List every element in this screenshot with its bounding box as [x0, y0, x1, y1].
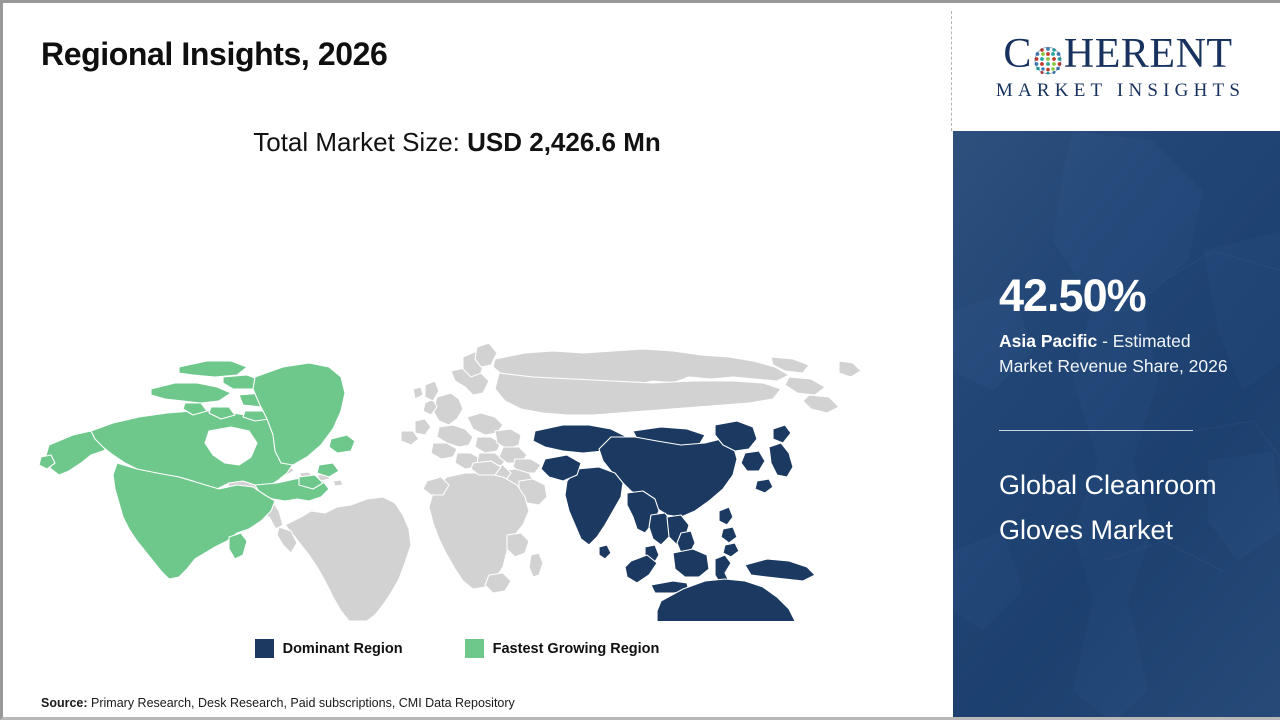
company-logo: C — [953, 3, 1280, 131]
legend-swatch-fastest-growing-icon — [465, 639, 484, 658]
stat-side-panel: 42.50% Asia Pacific - Estimated Market R… — [953, 131, 1280, 720]
slide-canvas: Regional Insights, 2026 Total Market Siz… — [0, 0, 1280, 720]
source-label: Source: — [41, 696, 88, 710]
page-title: Regional Insights, 2026 — [41, 36, 387, 73]
revenue-share-description: Asia Pacific - Estimated Market Revenue … — [999, 329, 1239, 379]
legend-label-dominant: Dominant Region — [283, 641, 403, 657]
globe-dots-icon — [1033, 41, 1063, 71]
logo-brand-part1: C — [1003, 33, 1032, 75]
logo-brand-part2: HERENT — [1064, 33, 1233, 75]
revenue-share-region: Asia Pacific — [999, 331, 1097, 351]
main-content-area: Regional Insights, 2026 Total Market Siz… — [3, 3, 951, 720]
revenue-share-percent: 42.50% — [999, 273, 1146, 318]
legend-item-dominant: Dominant Region — [255, 639, 403, 658]
vertical-divider — [951, 11, 952, 131]
total-market-size: Total Market Size: USD 2,426.6 Mn — [3, 127, 911, 158]
legend-label-fastest-growing: Fastest Growing Region — [493, 641, 660, 657]
map-region-asia-pacific — [533, 421, 851, 621]
map-legend: Dominant Region Fastest Growing Region — [3, 639, 911, 658]
source-note: Source: Primary Research, Desk Research,… — [41, 696, 515, 710]
legend-item-fastest-growing: Fastest Growing Region — [465, 639, 660, 658]
logo-wordmark: C — [1003, 33, 1232, 75]
legend-swatch-dominant-icon — [255, 639, 274, 658]
world-map — [33, 181, 913, 621]
total-market-size-label: Total Market Size: — [253, 127, 467, 157]
total-market-size-value: USD 2,426.6 Mn — [467, 127, 661, 157]
world-map-svg — [33, 181, 913, 621]
logo-tagline: MARKET INSIGHTS — [991, 80, 1245, 102]
side-panel-content: 42.50% Asia Pacific - Estimated Market R… — [999, 131, 1249, 720]
side-panel-divider — [999, 430, 1193, 431]
source-text: Primary Research, Desk Research, Paid su… — [88, 696, 515, 710]
market-name: Global Cleanroom Gloves Market — [999, 463, 1231, 554]
